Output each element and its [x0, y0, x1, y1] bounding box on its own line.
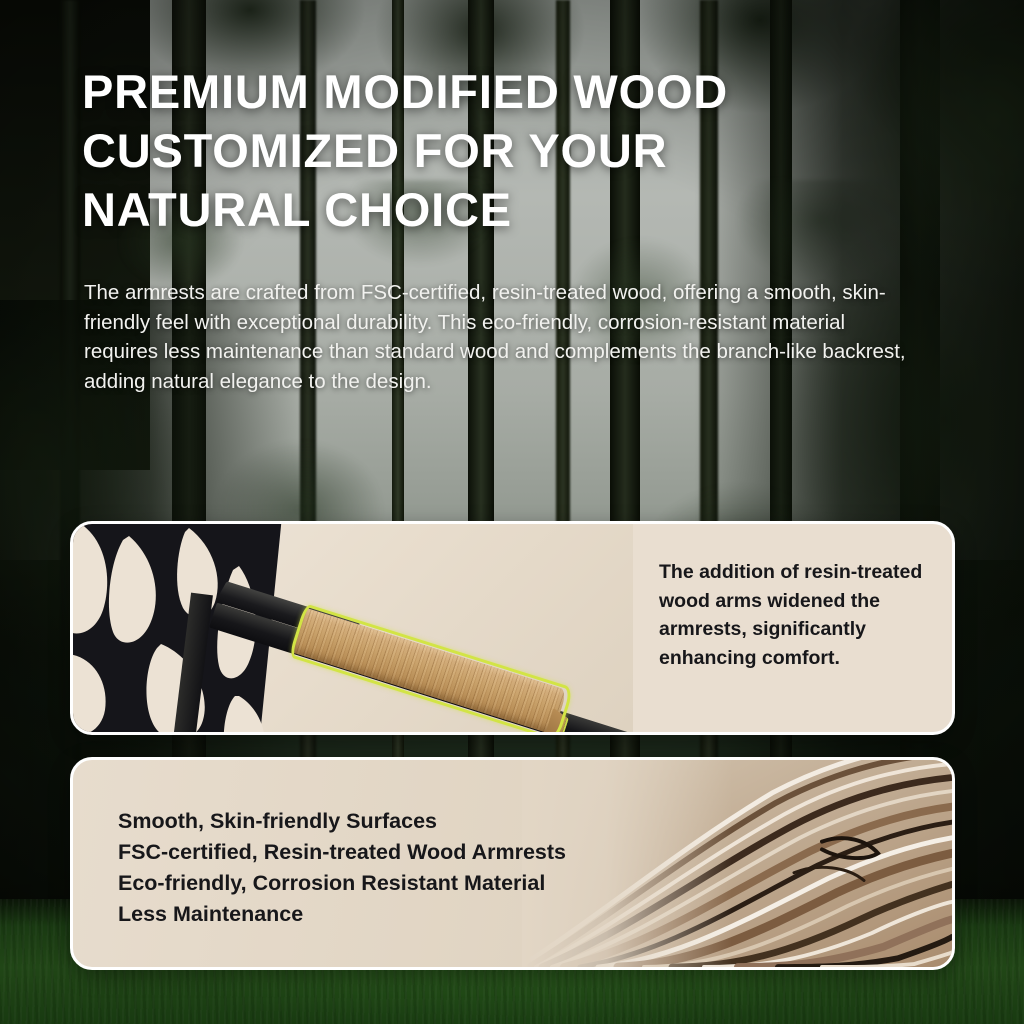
feature-item: Smooth, Skin-friendly Surfaces: [118, 806, 566, 837]
page-title: PREMIUM MODIFIED WOOD CUSTOMIZED FOR YOU…: [82, 62, 942, 239]
armrest-caption: The addition of resin-treated wood arms …: [633, 524, 952, 732]
poster: PREMIUM MODIFIED WOOD CUSTOMIZED FOR YOU…: [0, 0, 1024, 1024]
armrest-detail-card: The addition of resin-treated wood arms …: [70, 521, 955, 735]
headline-line-3: NATURAL CHOICE: [82, 180, 942, 239]
body-paragraph: The armrests are crafted from FSC-certif…: [84, 278, 924, 396]
feature-item: FSC-certified, Resin-treated Wood Armres…: [118, 837, 566, 868]
feature-item: Eco-friendly, Corrosion Resistant Materi…: [118, 868, 566, 899]
armrest-photo: [73, 524, 633, 732]
feature-list: Smooth, Skin-friendly Surfaces FSC-certi…: [118, 806, 566, 930]
feature-list-card: Smooth, Skin-friendly Surfaces FSC-certi…: [70, 757, 955, 970]
headline-line-1: PREMIUM MODIFIED WOOD: [82, 62, 942, 121]
content-layer: PREMIUM MODIFIED WOOD CUSTOMIZED FOR YOU…: [0, 0, 1024, 1024]
headline-line-2: CUSTOMIZED FOR YOUR: [82, 121, 942, 180]
feature-item: Less Maintenance: [118, 899, 566, 930]
wood-grain-image: [522, 760, 952, 967]
